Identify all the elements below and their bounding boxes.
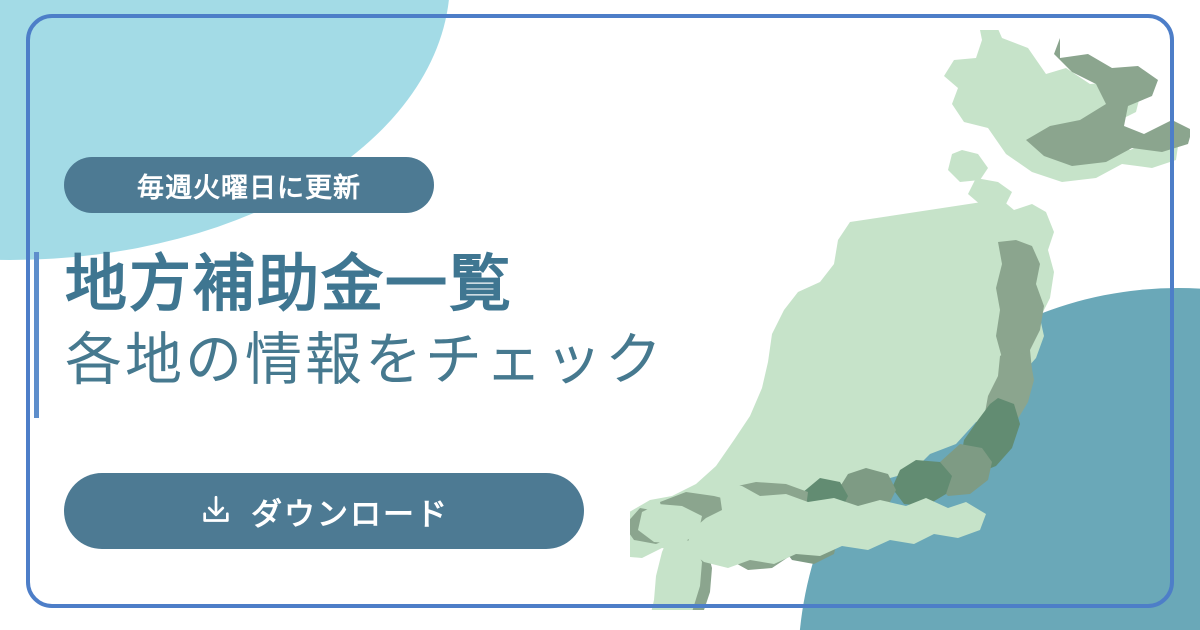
- title-block: 地方補助金一覧 各地の情報をチェック: [34, 252, 665, 418]
- download-button[interactable]: ダウンロード: [64, 473, 584, 549]
- page-title: 地方補助金一覧: [65, 252, 665, 319]
- banner-canvas: 毎週火曜日に更新 地方補助金一覧 各地の情報をチェック ダウンロード: [0, 0, 1200, 630]
- content-column: 毎週火曜日に更新 地方補助金一覧 各地の情報をチェック ダウンロード: [0, 0, 660, 630]
- page-subtitle: 各地の情報をチェック: [65, 325, 665, 396]
- update-schedule-badge: 毎週火曜日に更新: [64, 157, 434, 213]
- download-button-label: ダウンロード: [251, 489, 449, 534]
- download-icon: [199, 493, 233, 530]
- japan-map-illustration: [630, 30, 1190, 610]
